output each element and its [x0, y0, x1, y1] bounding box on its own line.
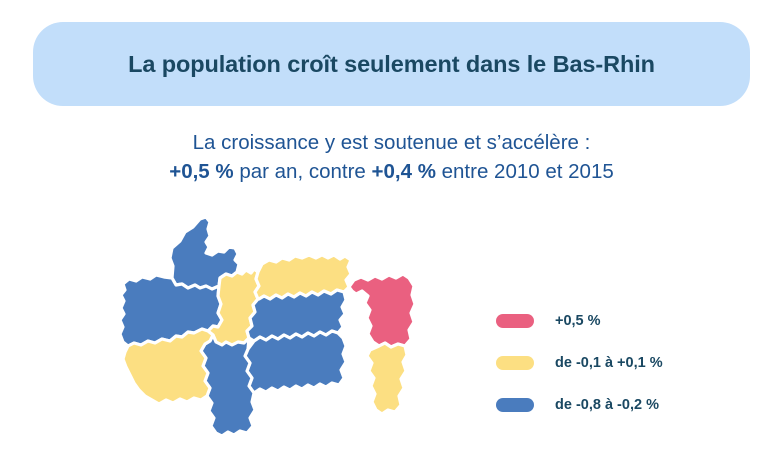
legend-swatch-pink — [496, 314, 534, 328]
map-legend: +0,5 % de -0,1 à +0,1 % de -0,8 à -0,2 % — [496, 300, 746, 426]
subtitle-line-1: La croissance y est soutenue et s’accélè… — [0, 128, 783, 157]
legend-item-blue[interactable]: de -0,8 à -0,2 % — [496, 384, 746, 426]
map-area-haut-rhin[interactable] — [367, 343, 407, 414]
legend-label-blue: de -0,8 à -0,2 % — [555, 397, 659, 413]
title-banner: La population croît seulement dans le Ba… — [33, 22, 750, 106]
subtitle-text-period: entre 2010 et 2015 — [436, 160, 614, 183]
subtitle-text-mid: par an, contre — [234, 160, 372, 183]
infographic-root: La population croît seulement dans le Ba… — [0, 0, 783, 466]
legend-item-yellow[interactable]: de -0,1 à +0,1 % — [496, 342, 746, 384]
legend-item-pink[interactable]: +0,5 % — [496, 300, 746, 342]
page-title: La population croît seulement dans le Ba… — [128, 50, 655, 78]
legend-label-pink: +0,5 % — [555, 313, 601, 329]
subtitle-value-current: +0,5 % — [169, 160, 233, 183]
subtitle: La croissance y est soutenue et s’accélè… — [0, 128, 783, 186]
legend-swatch-yellow — [496, 356, 534, 370]
map-area-bas-rhin[interactable] — [349, 274, 415, 347]
map-svg — [96, 214, 436, 448]
legend-label-yellow: de -0,1 à +0,1 % — [555, 355, 663, 371]
legend-swatch-blue — [496, 398, 534, 412]
map-grand-est — [96, 214, 436, 448]
subtitle-value-previous: +0,4 % — [372, 160, 436, 183]
subtitle-line-2: +0,5 % par an, contre +0,4 % entre 2010 … — [0, 157, 783, 186]
map-area-vosges[interactable] — [245, 331, 346, 393]
